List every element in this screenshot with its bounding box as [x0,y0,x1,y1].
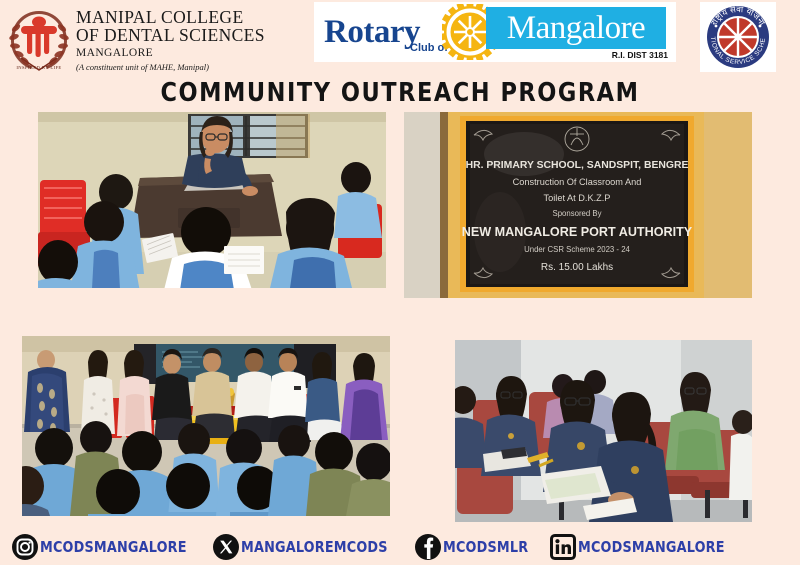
social-linkedin[interactable]: MCODSMANGALORE [550,534,737,560]
page-title: COMMUNITY OUTREACH PROGRAM [16,78,784,108]
plaque-line-4: Sponsored By [553,209,602,218]
photo-bottom-left-image [22,336,390,516]
mcods-name-text: MANIPAL COLLEGE OF DENTAL SCIENCES MANGA… [76,6,265,73]
social-x-twitter[interactable]: MANGALOREMCODS [213,534,400,560]
plaque-line-2: Construction Of Classroom And [513,177,642,187]
photo-bottom-right-image [455,340,752,522]
mahe-inspired-by-life-logo: INSPIRED BY LIFE [8,8,70,72]
plaque-line-6: Under CSR Scheme 2023 - 24 [524,245,630,254]
mcods-line-1: MANIPAL COLLEGE [76,8,265,26]
photo-top-left [38,112,386,288]
nss-logo: राष्ट्रीय सेवा योजना NATIONAL SERVICE SC… [700,2,776,72]
plaque-line-3: Toilet At D.K.Z.P [544,193,611,203]
mcods-affiliation: (A constituent unit of MAHE, Manipal) [76,62,265,73]
x-twitter-icon[interactable] [213,534,239,560]
photo-bottom-left [22,336,390,516]
rotary-club-logo: Rotary Club of [314,2,676,62]
photo-top-left-image [38,112,386,288]
social-facebook[interactable]: MCODSMLR [415,534,536,560]
mcods-city: MANGALORE [76,45,265,62]
plaque-line-5: NEW MANGALORE PORT AUTHORITY [462,225,693,239]
plaque-image: HR. PRIMARY SCHOOL, SANDSPIT, BENGRE Con… [404,112,752,298]
photo-top-right: HR. PRIMARY SCHOOL, SANDSPIT, BENGRE Con… [404,112,752,298]
x-twitter-handle[interactable]: MANGALOREMCODS [241,538,388,556]
mahe-motto-text: INSPIRED BY LIFE [16,65,61,70]
mcods-line-2: OF DENTAL SCIENCES [76,26,265,44]
plaque-line-1: HR. PRIMARY SCHOOL, SANDSPIT, BENGRE [466,160,689,171]
poster-header: INSPIRED BY LIFE MANIPAL COLLEGE OF DENT… [0,0,800,78]
facebook-handle[interactable]: MCODSMLR [443,538,528,556]
facebook-icon[interactable] [415,534,441,560]
social-instagram[interactable]: MCODSMANGALORE [12,534,199,560]
linkedin-icon[interactable] [550,534,576,560]
rotary-mangalore-badge: Mangalore [486,7,666,49]
instagram-icon[interactable] [12,534,38,560]
linkedin-handle[interactable]: MCODSMANGALORE [578,538,725,556]
plaque-line-7: Rs. 15.00 Lakhs [541,262,613,273]
rotary-district-label: R.I. DIST 3181 [612,50,668,60]
instagram-handle[interactable]: MCODSMANGALORE [40,538,187,556]
social-media-footer: MCODSMANGALORE MANGALOREMCODS MCODSMLR [0,528,800,565]
rotary-city-label: Mangalore [507,12,645,45]
rotary-wordmark: Rotary [324,16,420,49]
photo-bottom-right [455,340,752,522]
mcods-branding: INSPIRED BY LIFE MANIPAL COLLEGE OF DENT… [8,6,265,73]
